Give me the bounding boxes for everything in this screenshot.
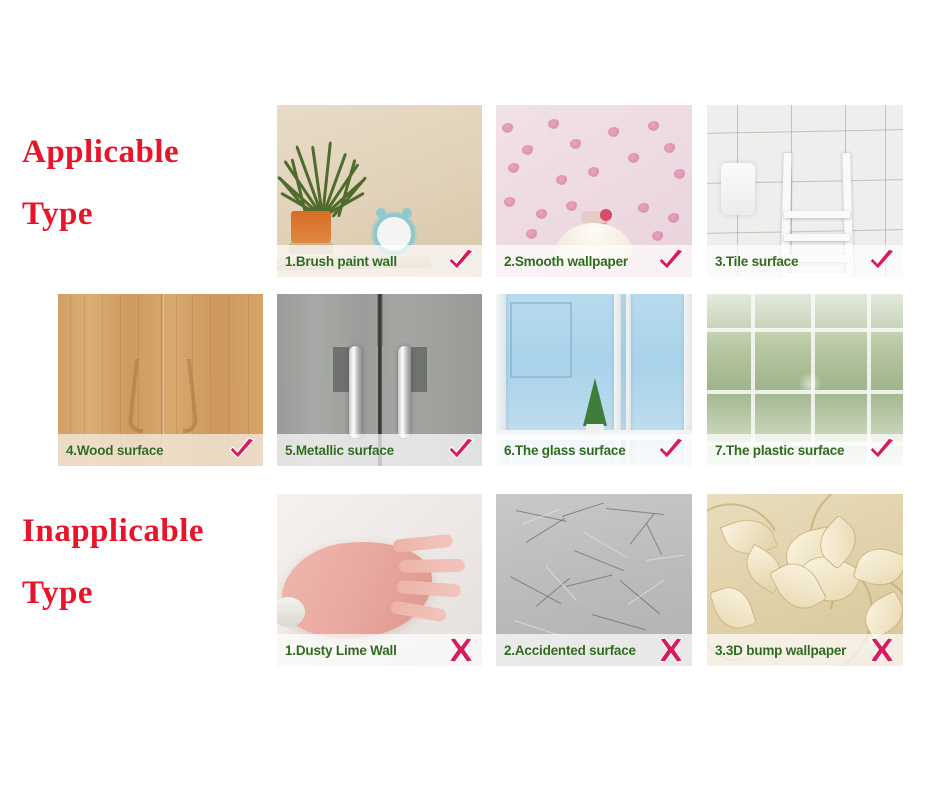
- applicable-heading-line1: Applicable: [22, 133, 179, 171]
- caption-bar: 6.The glass surface: [496, 434, 692, 466]
- towel-icon: [721, 163, 755, 215]
- handle-bracket-right: [411, 347, 427, 392]
- check-icon: [227, 437, 257, 463]
- cross-icon: [656, 637, 686, 663]
- surface-compatibility-chart: Applicable Type Inapplicable Type: [0, 0, 930, 800]
- cabinet-handle-right: [175, 359, 199, 433]
- caption-bar: 3.3D bump wallpaper: [707, 634, 903, 666]
- plant-foliage-icon: [277, 139, 371, 217]
- cell-3d-bump-wallpaper: 3.3D bump wallpaper: [707, 494, 903, 666]
- cross-icon: [867, 637, 897, 663]
- section-heading-inapplicable: Inapplicable Type: [22, 512, 204, 612]
- cell-tile-surface: 3.Tile surface: [707, 105, 903, 277]
- potted-cypress-icon: [582, 378, 608, 436]
- caption-bar: 5.Metallic surface: [277, 434, 482, 466]
- cell-label: 6.The glass surface: [504, 443, 626, 458]
- handle-bracket-left: [333, 347, 349, 392]
- caption-bar: 2.Smooth wallpaper: [496, 245, 692, 277]
- caption-bar: 1.Dusty Lime Wall: [277, 634, 482, 666]
- cabinet-handle-left: [127, 359, 151, 433]
- inapplicable-heading-line1: Inapplicable: [22, 512, 204, 550]
- cell-label: 5.Metallic surface: [285, 443, 394, 458]
- cell-label: 2.Accidented surface: [504, 643, 636, 658]
- caption-bar: 3.Tile surface: [707, 245, 903, 277]
- caption-bar: 2.Accidented surface: [496, 634, 692, 666]
- cell-wood-surface: 4.Wood surface: [58, 294, 263, 466]
- cell-label: 4.Wood surface: [66, 443, 163, 458]
- cell-dusty-lime-wall: 1.Dusty Lime Wall: [277, 494, 482, 666]
- cell-plastic-surface: 7.The plastic surface: [707, 294, 903, 466]
- cell-smooth-wallpaper: 2.Smooth wallpaper: [496, 105, 692, 277]
- check-icon: [446, 248, 476, 274]
- applicable-heading-line2: Type: [22, 195, 179, 233]
- check-icon: [867, 248, 897, 274]
- cross-icon: [446, 637, 476, 663]
- fridge-handle-right: [398, 346, 411, 439]
- section-heading-applicable: Applicable Type: [22, 133, 179, 233]
- cell-accidented-surface: 2.Accidented surface: [496, 494, 692, 666]
- flower-pot-icon: [291, 211, 331, 245]
- cell-label: 1.Brush paint wall: [285, 254, 397, 269]
- check-icon: [446, 437, 476, 463]
- cell-label: 3.Tile surface: [715, 254, 798, 269]
- caption-bar: 4.Wood surface: [58, 434, 263, 466]
- cell-brush-paint-wall: 1.Brush paint wall: [277, 105, 482, 277]
- caption-bar: 1.Brush paint wall: [277, 245, 482, 277]
- caption-bar: 7.The plastic surface: [707, 434, 903, 466]
- cell-label: 3.3D bump wallpaper: [715, 643, 846, 658]
- cell-metallic-surface: 5.Metallic surface: [277, 294, 482, 466]
- cell-glass-surface: 6.The glass surface: [496, 294, 692, 466]
- check-icon: [867, 437, 897, 463]
- cell-label: 7.The plastic surface: [715, 443, 844, 458]
- check-icon: [656, 437, 686, 463]
- inapplicable-heading-line2: Type: [22, 574, 204, 612]
- check-icon: [656, 248, 686, 274]
- cell-label: 2.Smooth wallpaper: [504, 254, 628, 269]
- cell-label: 1.Dusty Lime Wall: [285, 643, 397, 658]
- fridge-handle-left: [349, 346, 362, 439]
